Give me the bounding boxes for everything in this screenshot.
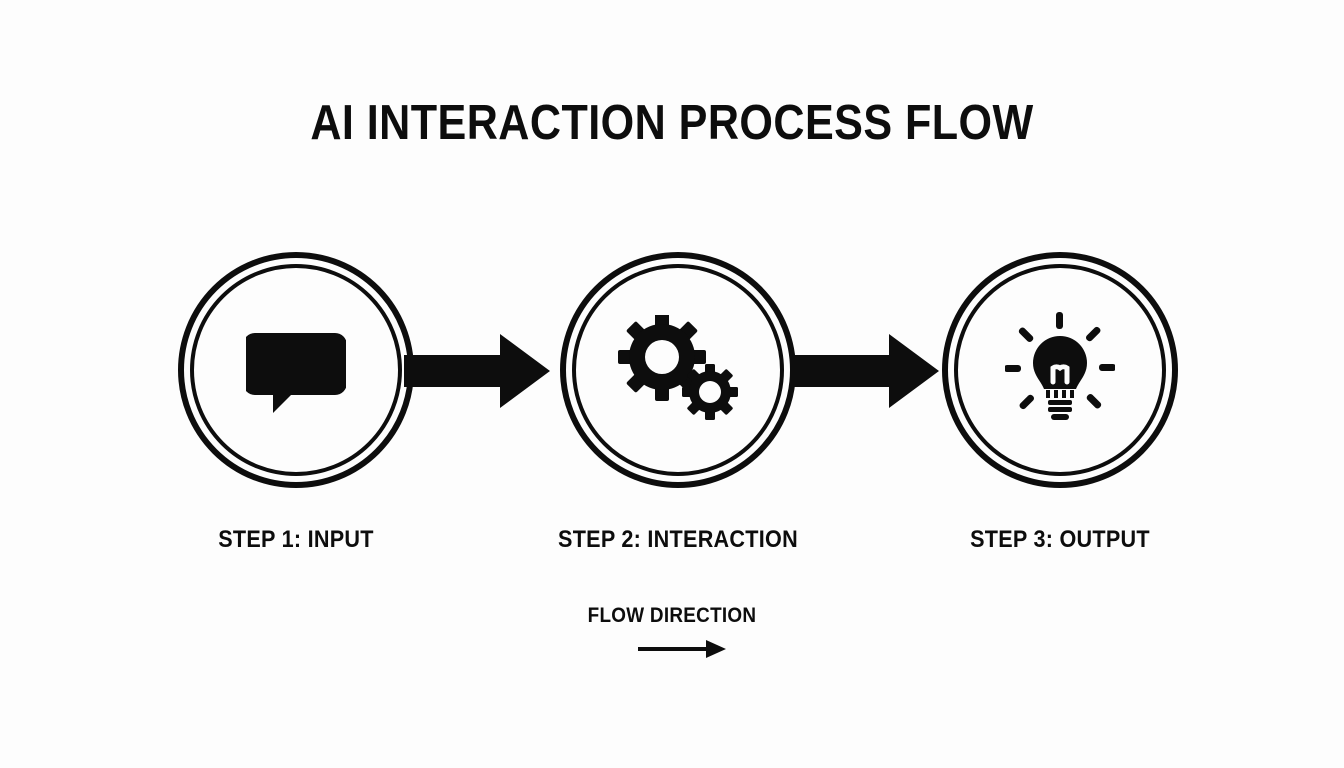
block-arrow-right-icon (404, 331, 550, 411)
gears-icon (618, 310, 738, 430)
flow-direction-label: FLOW DIRECTION (492, 605, 852, 626)
step-node-3[interactable] (942, 252, 1178, 488)
step-caption-1: STEP 1: INPUT (107, 528, 485, 552)
page-title: AI INTERACTION PROCESS FLOW (81, 99, 1264, 148)
speech-bubble-icon (236, 310, 356, 430)
step-node-1[interactable] (178, 252, 414, 488)
step-caption-2: STEP 2: INTERACTION (489, 528, 867, 552)
step-node-2[interactable] (560, 252, 796, 488)
thin-arrow-right-icon (636, 636, 728, 662)
step-caption-3: STEP 3: OUTPUT (871, 528, 1249, 552)
lightbulb-icon (1000, 310, 1120, 430)
block-arrow-right-icon (793, 331, 939, 411)
diagram-canvas: AI INTERACTION PROCESS FLOW (0, 0, 1344, 768)
